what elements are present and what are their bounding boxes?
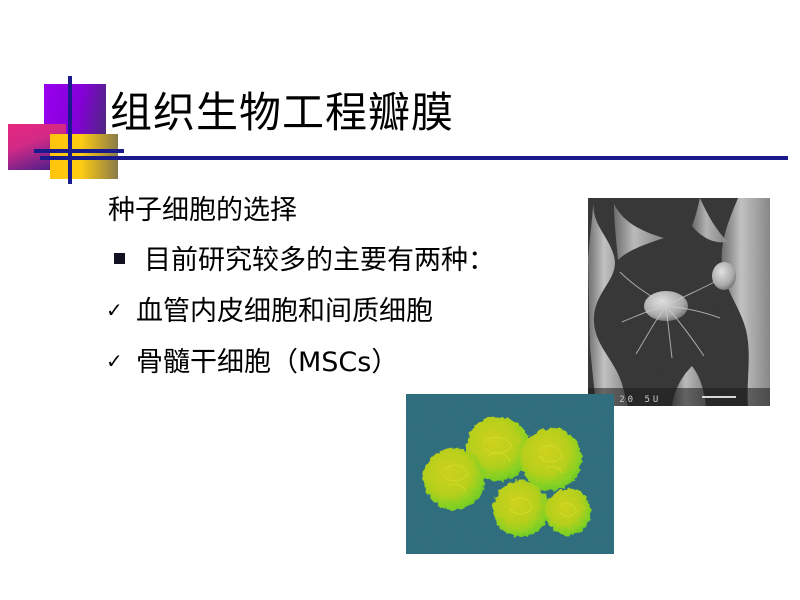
list-item-label: 种子细胞的选择	[108, 186, 297, 236]
bullet-list: 种子细胞的选择 目前研究较多的主要有两种： ✓ 血管内皮细胞和间质细胞 ✓ 骨髓…	[100, 186, 580, 389]
decorative-vertical-line	[68, 76, 72, 184]
list-item-label: 血管内皮细胞和间质细胞	[136, 287, 433, 337]
stem-cells-graphic	[406, 394, 614, 554]
list-item: 种子细胞的选择	[100, 186, 580, 236]
slide-title: 组织生物工程瓣膜	[110, 86, 454, 140]
list-item: ✓ 血管内皮细胞和间质细胞	[100, 287, 580, 338]
list-item: ✓ 骨髓干细胞（MSCs）	[100, 338, 580, 389]
list-item: 目前研究较多的主要有两种：	[100, 236, 580, 287]
bullet-check-icon: ✓	[106, 336, 136, 386]
list-item-label: 目前研究较多的主要有两种：	[144, 236, 495, 286]
bullet-check-icon: ✓	[106, 285, 136, 335]
list-item-label: 骨髓干细胞（MSCs）	[136, 338, 398, 388]
bullet-square-icon	[114, 232, 144, 282]
title-underline-rule	[40, 156, 788, 160]
sem-micrograph-stem-cells	[406, 394, 614, 554]
sem-micrograph-cell-network: 40 20 5U	[588, 198, 770, 406]
sem-scalebar-line	[702, 396, 736, 398]
decorative-logo-block	[8, 76, 123, 184]
decorative-horizontal-line	[34, 149, 124, 153]
sem-micrograph-graphic	[588, 198, 770, 406]
slide-canvas: 组织生物工程瓣膜 种子细胞的选择 目前研究较多的主要有两种： ✓ 血管内皮细胞和…	[0, 0, 800, 600]
